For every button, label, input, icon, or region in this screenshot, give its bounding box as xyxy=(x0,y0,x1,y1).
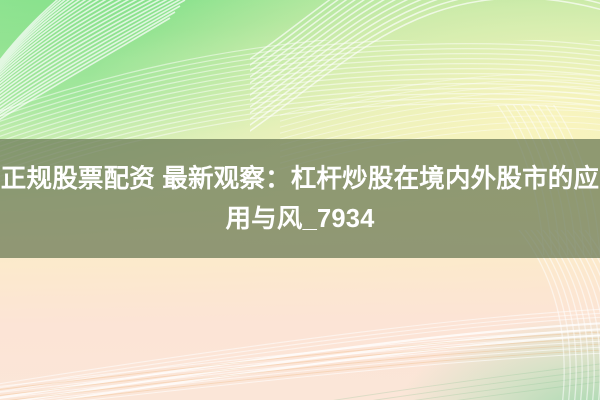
caption-band: 正规股票配资 最新观察：杠杆炒股在境内外股市的应 用与风_7934 xyxy=(0,139,600,258)
caption-line-1: 正规股票配资 最新观察：杠杆炒股在境内外股市的应 xyxy=(1,159,599,199)
caption-line-2: 用与风_7934 xyxy=(225,199,374,239)
banner-image: 正规股票配资 最新观察：杠杆炒股在境内外股市的应 用与风_7934 xyxy=(0,0,600,400)
